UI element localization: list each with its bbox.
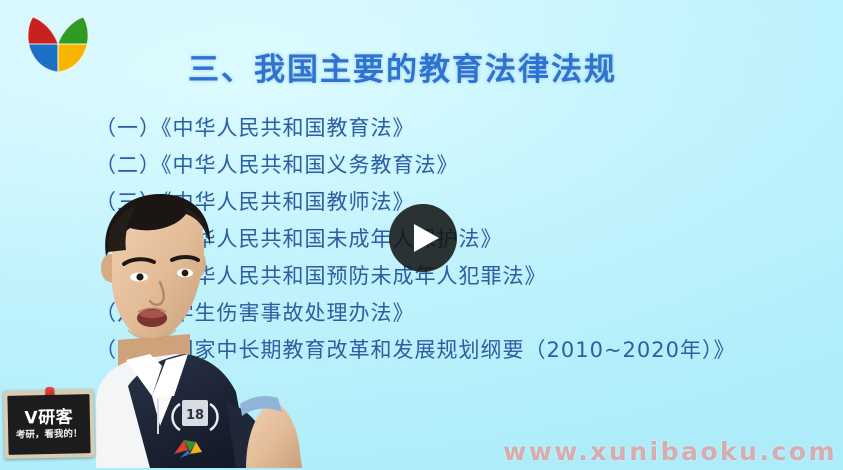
slide-title: 三、我国主要的教育法律法规	[188, 44, 617, 89]
chalkboard-slate: V研客 考研，看我的！	[7, 394, 90, 455]
slide-line: （一）《中华人民共和国教育法》	[95, 110, 815, 147]
slide-line: （二）《中华人民共和国义务教育法》	[95, 147, 815, 184]
chalkboard-sign: V研客 考研，看我的！	[3, 389, 94, 459]
chalkboard-brand: V研客	[24, 409, 73, 427]
play-triangle-icon	[414, 224, 439, 252]
video-player[interactable]: 三、我国主要的教育法律法规 （一）《中华人民共和国教育法》 （二）《中华人民共和…	[0, 0, 843, 470]
chalkboard-tagline: 考研，看我的！	[16, 429, 83, 440]
svg-text:18: 18	[186, 408, 204, 423]
play-button[interactable]	[389, 204, 457, 272]
four-petal-logo-icon	[24, 14, 92, 74]
